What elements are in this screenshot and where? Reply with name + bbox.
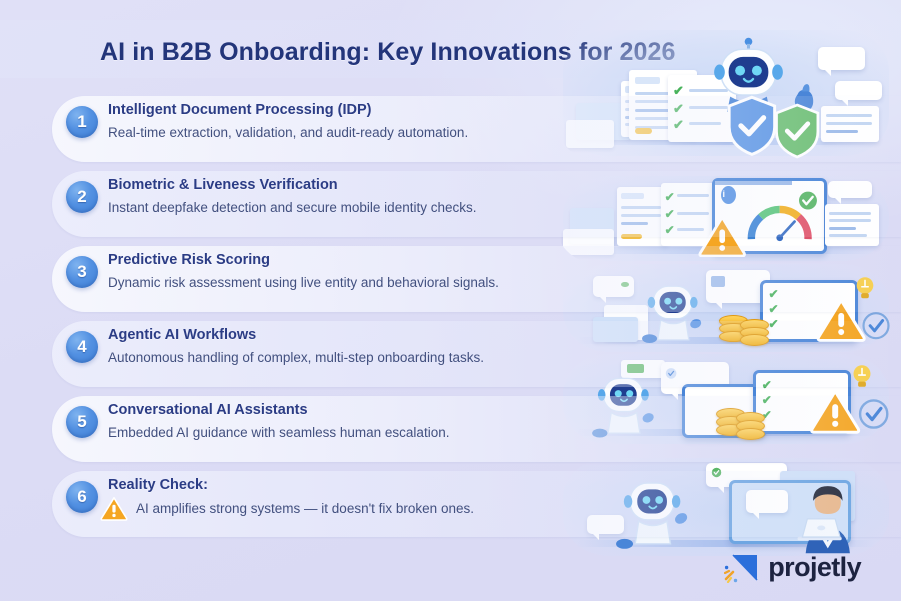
step-badge: 4 <box>66 331 98 363</box>
list-item[interactable]: 6 Reality Check: AI amplifies strong sys… <box>0 467 901 542</box>
step-badge: 2 <box>66 181 98 213</box>
item-description: Real-time extraction, validation, and au… <box>108 125 468 140</box>
item-description: AI amplifies strong systems — it doesn't… <box>136 501 474 516</box>
warning-triangle-icon <box>100 496 128 521</box>
item-heading: Conversational AI Assistants <box>108 402 308 418</box>
item-heading: Reality Check: <box>108 477 208 493</box>
feature-list: 1 Intelligent Document Processing (IDP) … <box>0 92 901 542</box>
item-heading: Predictive Risk Scoring <box>108 252 270 268</box>
list-item[interactable]: 4 Agentic AI Workflows Autonomous handli… <box>0 317 901 392</box>
step-badge: 6 <box>66 481 98 513</box>
brand-name: projetly <box>768 552 861 583</box>
item-heading: Biometric & Liveness Verification <box>108 177 338 193</box>
list-item[interactable]: 3 Predictive Risk Scoring Dynamic risk a… <box>0 242 901 317</box>
item-description: Instant deepfake detection and secure mo… <box>108 200 476 215</box>
projetly-triangle-logo-icon <box>724 553 758 583</box>
item-description: Autonomous handling of complex, multi-st… <box>108 350 484 365</box>
item-description: Embedded AI guidance with seamless human… <box>108 425 449 440</box>
step-badge: 5 <box>66 406 98 438</box>
list-item[interactable]: 2 Biometric & Liveness Verification Inst… <box>0 167 901 242</box>
step-badge: 1 <box>66 106 98 138</box>
step-badge: 3 <box>66 256 98 288</box>
list-item[interactable]: 5 Conversational AI Assistants Embedded … <box>0 392 901 467</box>
infographic-canvas: AI in B2B Onboarding: Key Innovations fo… <box>0 0 901 601</box>
list-item[interactable]: 1 Intelligent Document Processing (IDP) … <box>0 92 901 167</box>
footer-logo[interactable]: projetly <box>724 552 861 583</box>
item-description: Dynamic risk assessment using live entit… <box>108 275 499 290</box>
item-heading: Agentic AI Workflows <box>108 327 256 343</box>
item-heading: Intelligent Document Processing (IDP) <box>108 102 371 118</box>
